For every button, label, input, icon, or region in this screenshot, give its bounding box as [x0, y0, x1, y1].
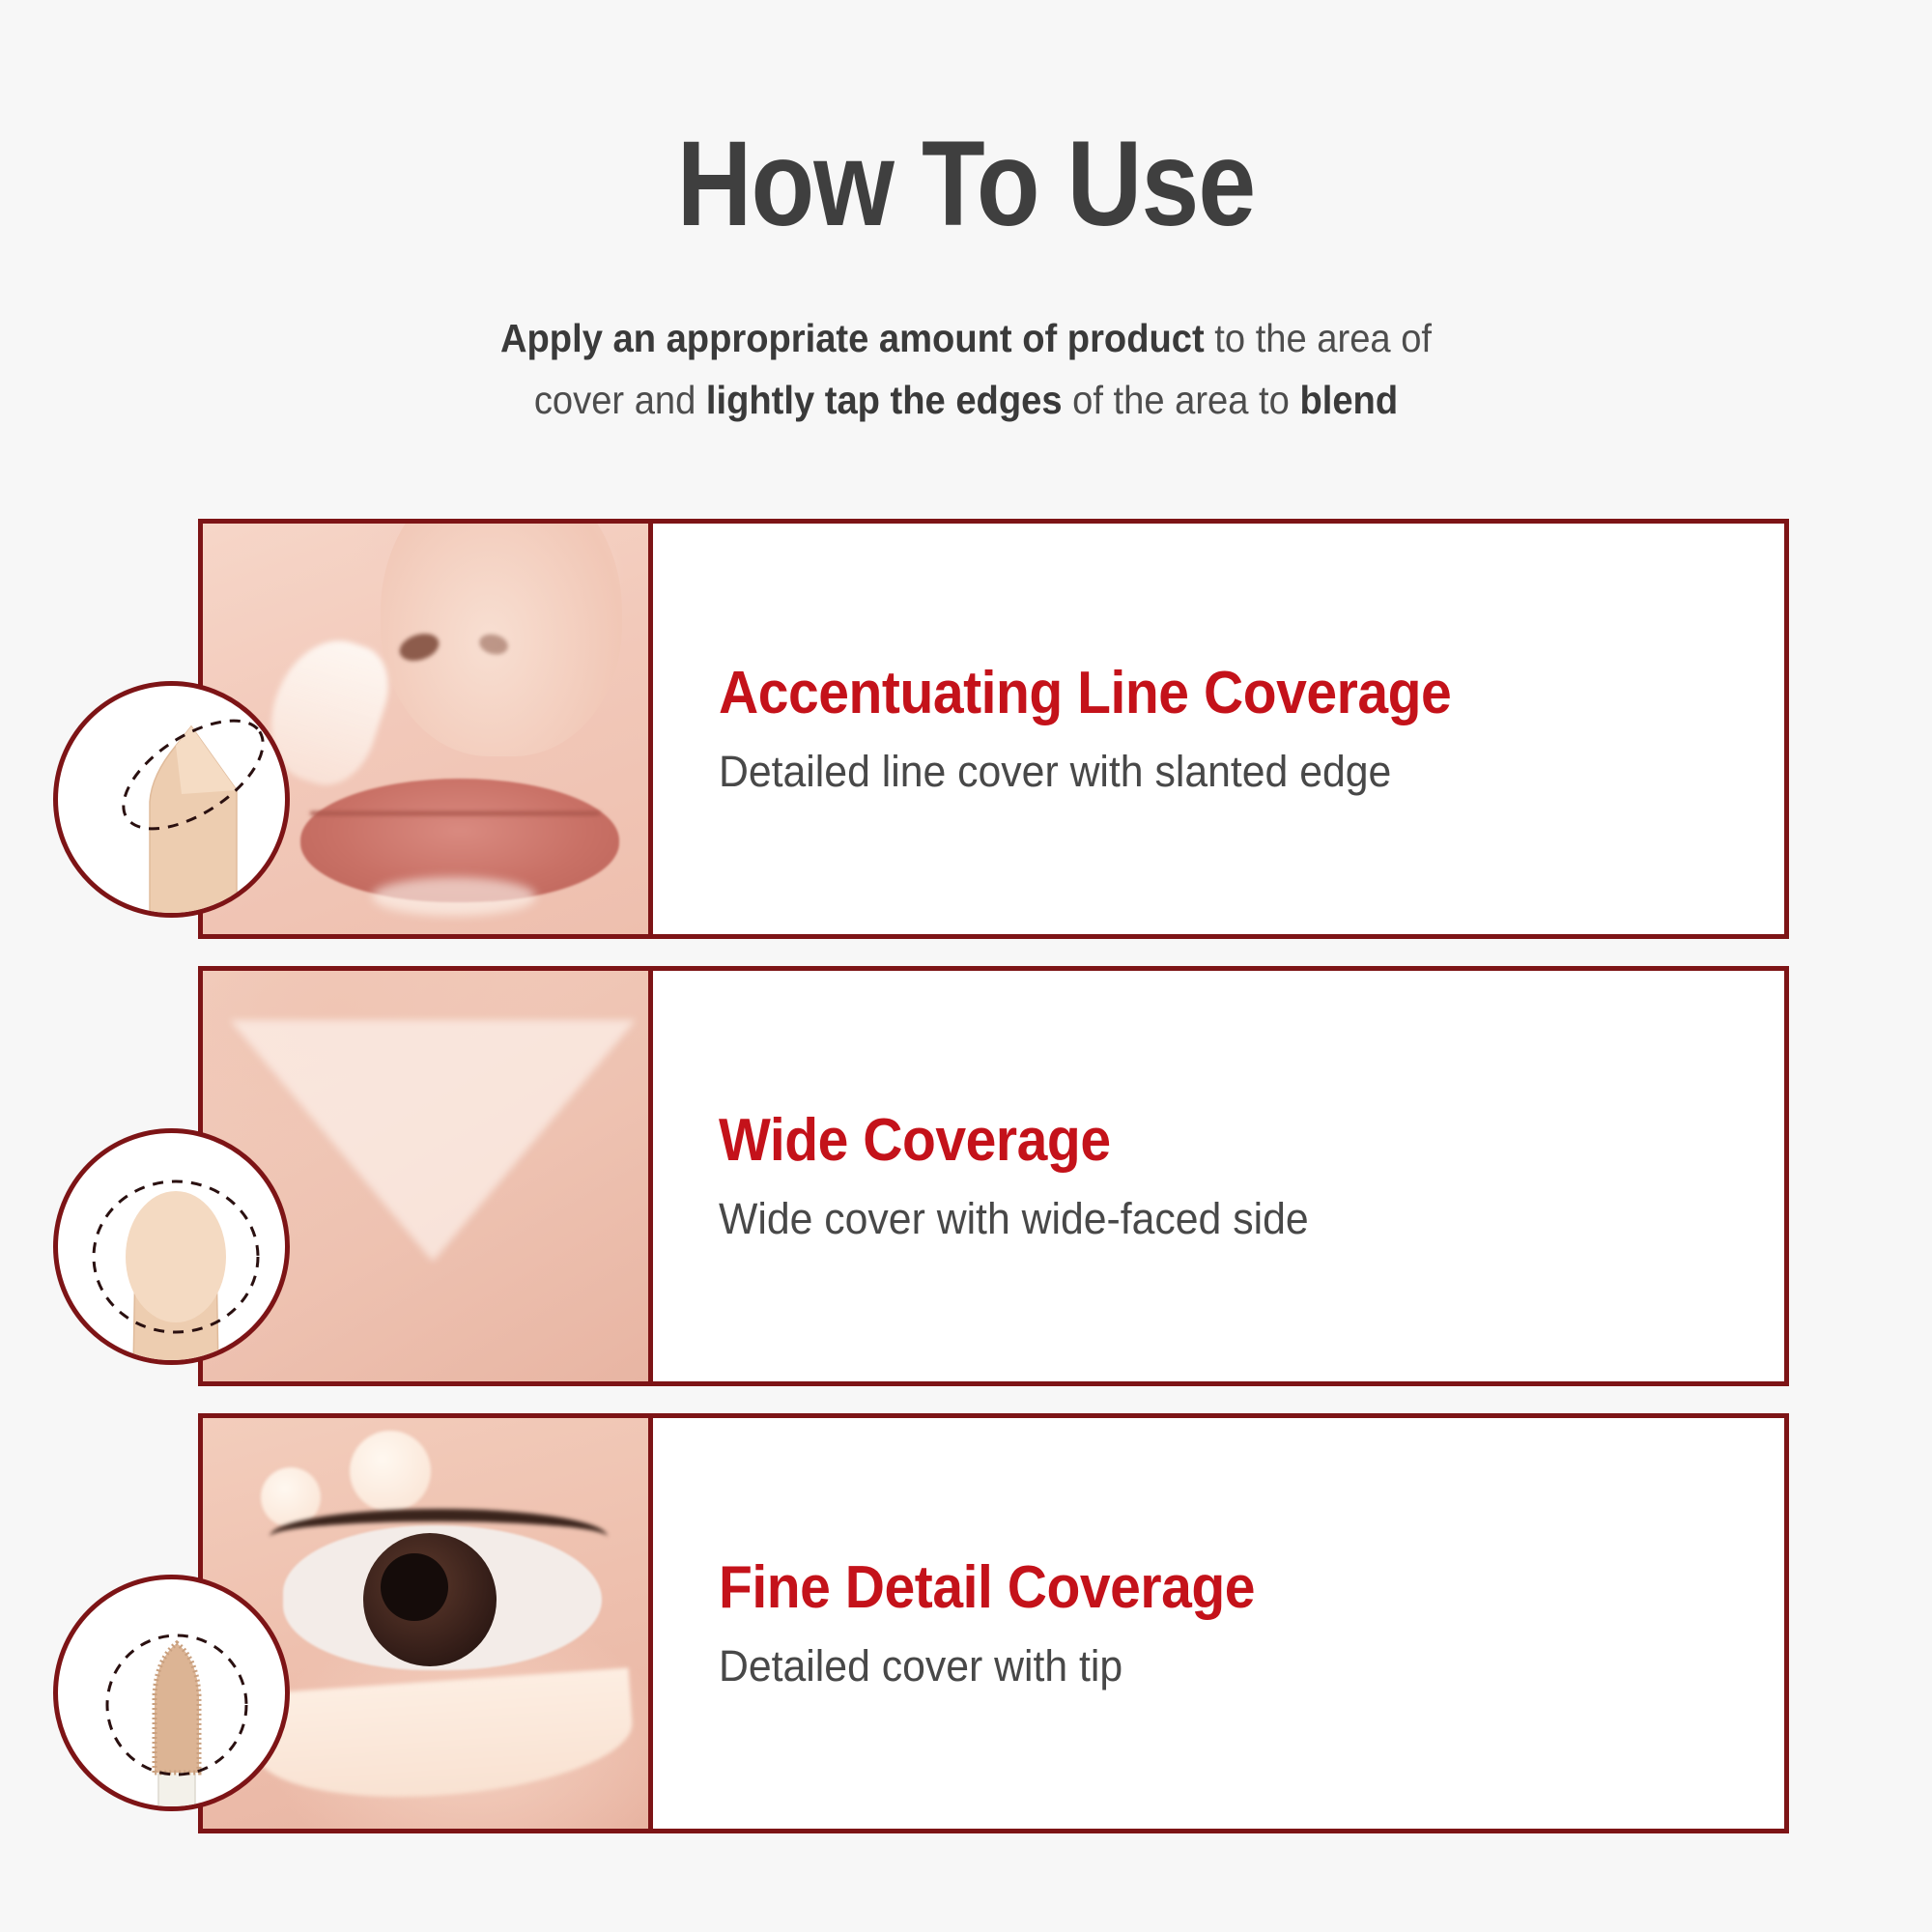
- applicator-badge-wide-face: [53, 1128, 290, 1365]
- subtitle-bold-3: blend: [1299, 378, 1398, 422]
- skin-photo-nose-lips: [203, 524, 648, 934]
- concealer-undereye-swatch: [253, 1668, 637, 1808]
- lip-seam: [310, 811, 600, 815]
- subtitle-bold-1: Apply an appropriate amount of product: [500, 316, 1205, 360]
- concealer-triangle-swatch: [230, 1020, 636, 1262]
- card-photo-fine-detail: [203, 1418, 653, 1829]
- card-subtitle: Detailed line cover with slanted edge: [719, 746, 1731, 798]
- card-photo-wide: [203, 971, 653, 1381]
- card-heading: Fine Detail Coverage: [719, 1554, 1699, 1621]
- card-text-accentuating-line: Accentuating Line Coverage Detailed line…: [653, 524, 1784, 934]
- brush-tip-icon: [58, 1579, 290, 1811]
- skin-photo-eye: [203, 1418, 648, 1829]
- eye-lash-line: [270, 1509, 608, 1565]
- subtitle-line-2: cover and lightly tap the edges of the a…: [68, 370, 1864, 432]
- subtitle-rest-1: to the area of: [1205, 316, 1432, 360]
- concealer-chin-swatch: [372, 877, 536, 916]
- applicator-badge-brush-tip: [53, 1575, 290, 1811]
- coverage-card-wide: Wide Coverage Wide cover with wide-faced…: [198, 966, 1789, 1386]
- card-text-wide: Wide Coverage Wide cover with wide-faced…: [653, 971, 1784, 1381]
- card-subtitle: Wide cover with wide-faced side: [719, 1193, 1731, 1245]
- coverage-card-list: Accentuating Line Coverage Detailed line…: [198, 519, 1789, 1861]
- subtitle-line-1: Apply an appropriate amount of product t…: [68, 308, 1864, 370]
- applicator-badge-slanted-edge: [53, 681, 290, 918]
- card-text-fine-detail: Fine Detail Coverage Detailed cover with…: [653, 1418, 1784, 1829]
- card-photo-accentuating-line: [203, 524, 653, 934]
- infographic-page: How To Use Apply an appropriate amount o…: [0, 0, 1932, 1932]
- coverage-card-accentuating-line: Accentuating Line Coverage Detailed line…: [198, 519, 1789, 939]
- subtitle-bold-2: lightly tap the edges: [706, 378, 1063, 422]
- page-subtitle: Apply an appropriate amount of product t…: [68, 308, 1864, 431]
- slanted-tip-icon: [58, 686, 290, 918]
- card-heading: Accentuating Line Coverage: [719, 660, 1699, 726]
- coverage-card-fine-detail: Fine Detail Coverage Detailed cover with…: [198, 1413, 1789, 1833]
- wide-face-tip-icon: [58, 1133, 290, 1365]
- subtitle-text-2b: of the area to: [1063, 378, 1300, 422]
- card-heading: Wide Coverage: [719, 1107, 1699, 1174]
- header: How To Use Apply an appropriate amount o…: [0, 0, 1932, 431]
- skin-photo-cheek: [203, 971, 648, 1381]
- subtitle-text-2a: cover and: [534, 378, 706, 422]
- card-subtitle: Detailed cover with tip: [719, 1640, 1731, 1692]
- page-title: How To Use: [135, 124, 1797, 244]
- concealer-dot-large: [350, 1431, 431, 1512]
